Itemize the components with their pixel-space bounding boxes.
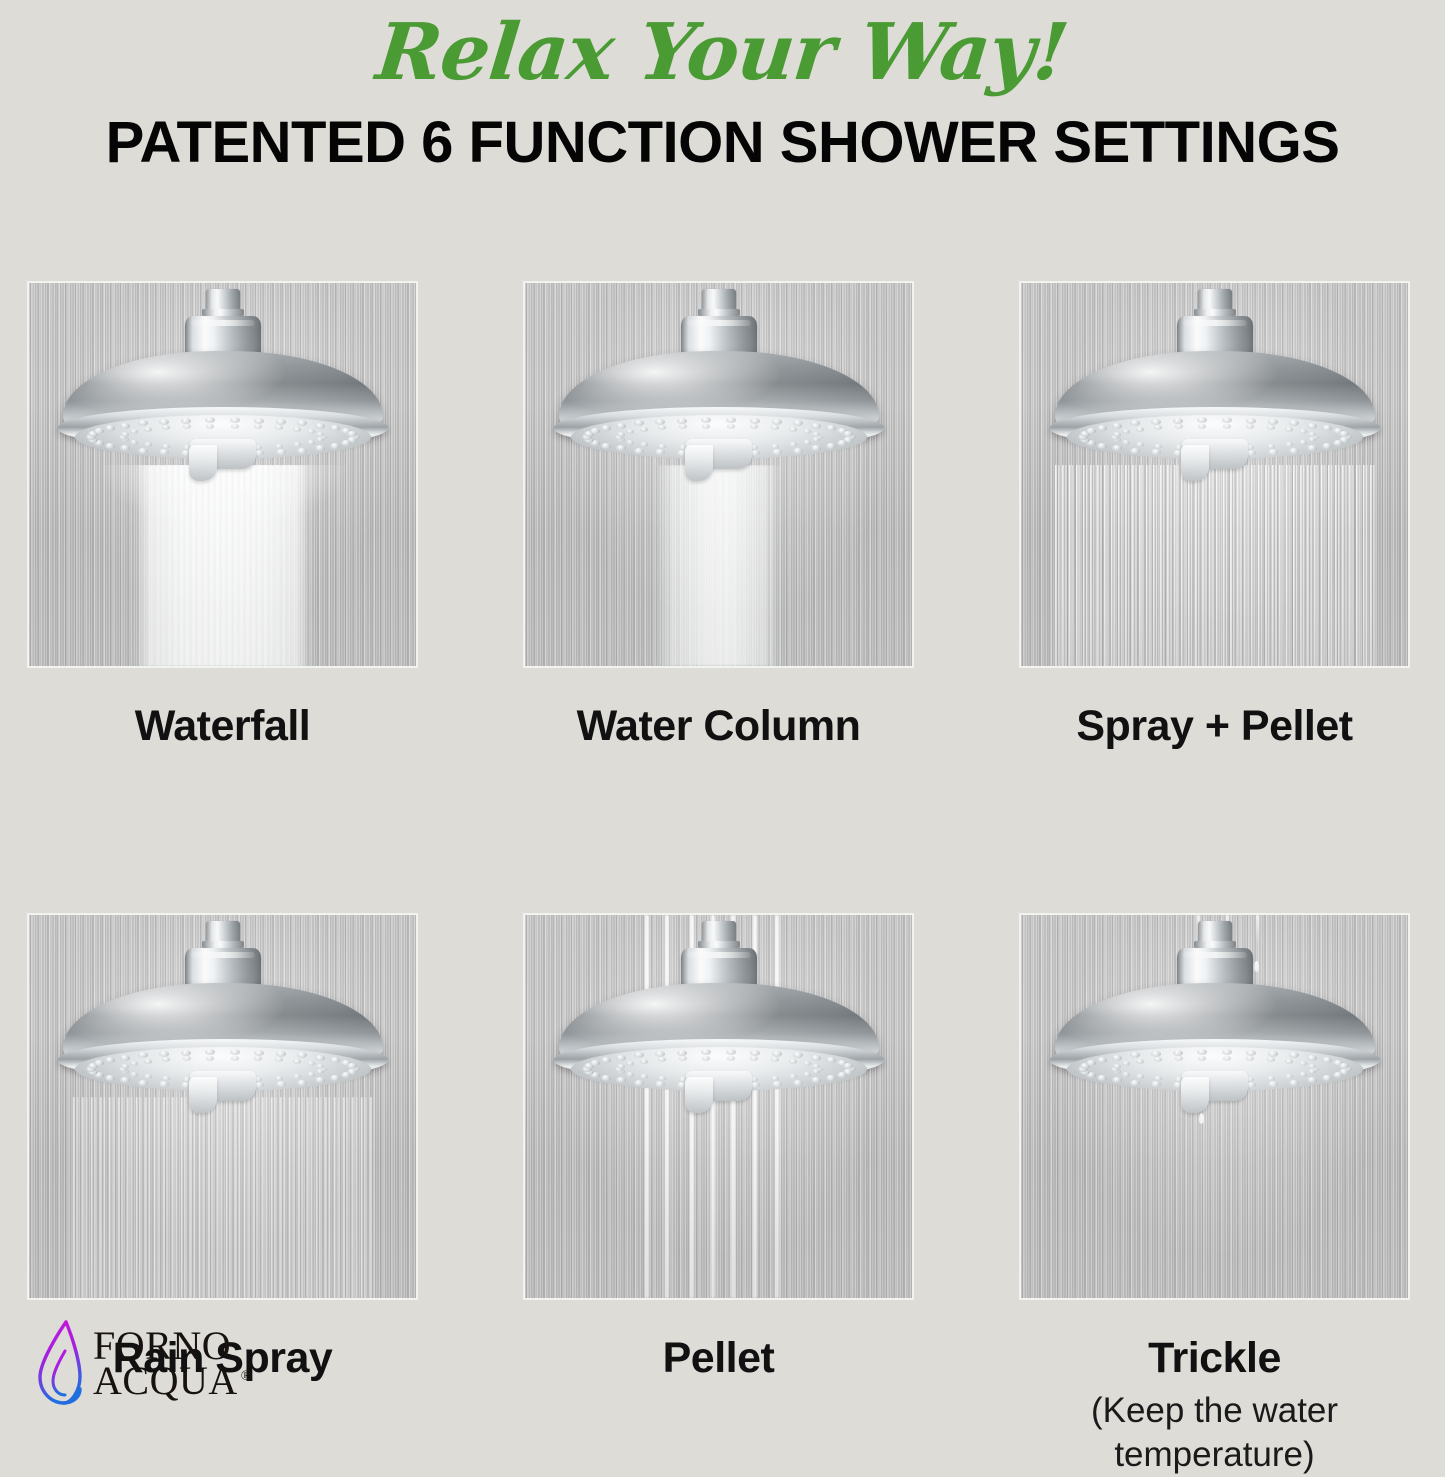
setting-card-spray-pellet[interactable]: Spray + Pellet <box>1019 281 1410 751</box>
page-title: PATENTED 6 FUNCTION SHOWER SETTINGS <box>0 114 1445 172</box>
photo-vignette <box>1021 283 1408 666</box>
setting-label-trickle: Trickle <box>1019 1334 1410 1383</box>
photo-vignette <box>29 283 416 666</box>
photo-vignette <box>525 915 912 1298</box>
setting-card-trickle[interactable]: Trickle (Keep the water temperature) <box>1019 913 1410 1477</box>
setting-label-spray-pellet: Spray + Pellet <box>1019 702 1410 751</box>
photo-vignette <box>1021 915 1408 1298</box>
setting-label-pellet: Pellet <box>523 1334 914 1383</box>
shower-settings-grid: Waterfall Water Column <box>27 281 1418 1477</box>
brand-line-2-text: ACQUA <box>93 1358 238 1403</box>
product-photo-spray-pellet <box>1019 281 1410 668</box>
product-photo-waterfall <box>27 281 418 668</box>
brand-logo: FORNO ACQUA® <box>33 1317 252 1409</box>
photo-vignette <box>525 283 912 666</box>
water-drop-icon <box>33 1317 85 1409</box>
product-photo-rain-spray <box>27 913 418 1300</box>
setting-card-water-column[interactable]: Water Column <box>523 281 914 751</box>
brand-line-2: ACQUA® <box>93 1363 252 1398</box>
setting-label-waterfall: Waterfall <box>27 702 418 751</box>
setting-sublabel-trickle: (Keep the water temperature) <box>1019 1389 1410 1477</box>
setting-card-pellet[interactable]: Pellet <box>523 913 914 1477</box>
setting-card-waterfall[interactable]: Waterfall <box>27 281 418 751</box>
brand-wordmark: FORNO ACQUA® <box>93 1328 252 1398</box>
product-photo-trickle <box>1019 913 1410 1300</box>
registered-mark-icon: ® <box>241 1369 252 1384</box>
setting-label-water-column: Water Column <box>523 702 914 751</box>
photo-vignette <box>29 915 416 1298</box>
product-photo-water-column <box>523 281 914 668</box>
script-headline: Relax Your Way! <box>373 14 1071 92</box>
product-photo-pellet <box>523 913 914 1300</box>
page-header: Relax Your Way! PATENTED 6 FUNCTION SHOW… <box>0 0 1445 172</box>
